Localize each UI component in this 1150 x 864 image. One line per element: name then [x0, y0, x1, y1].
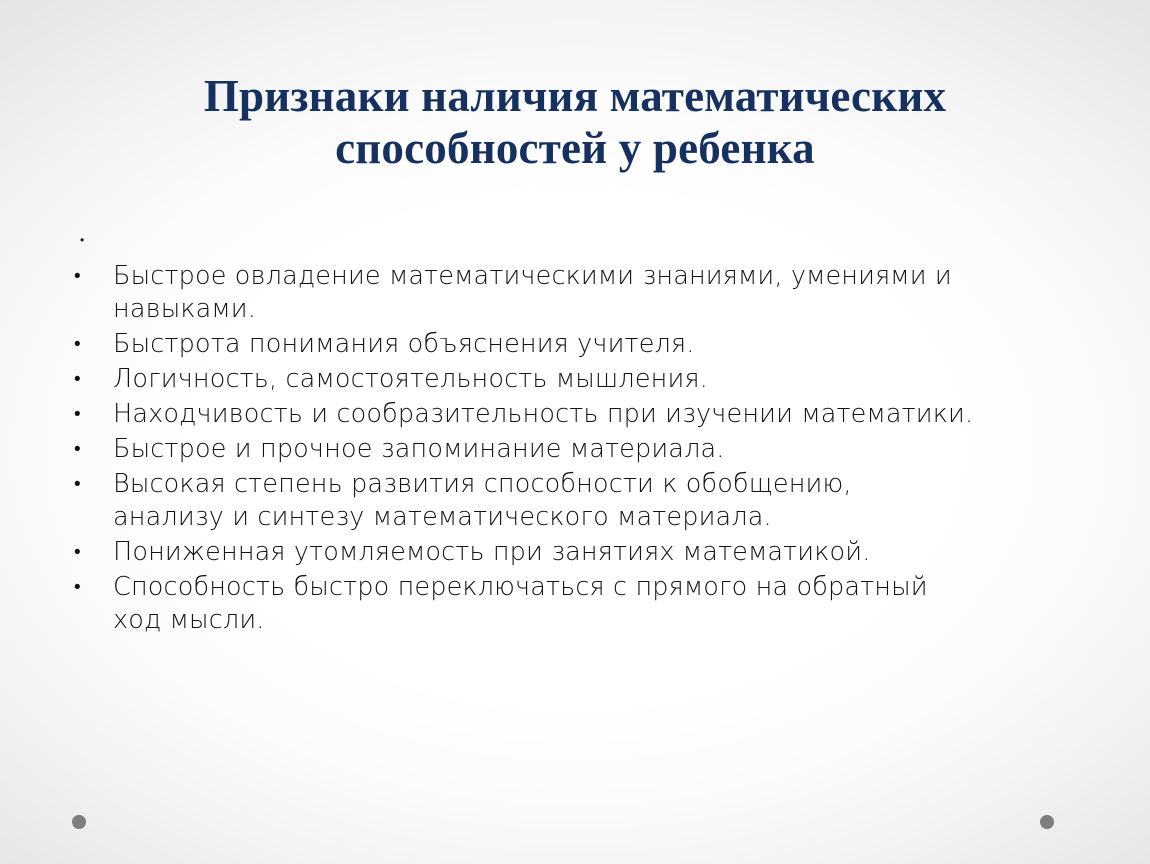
- bullet-item-line: Логичность, самостоятельность мышления.: [113, 363, 1102, 396]
- bullet-item-line: Быстрое овладение математическими знания…: [113, 260, 1102, 293]
- bullet-item-line: анализу и синтезу математического матери…: [113, 501, 1102, 534]
- slide-title: Признаки наличия математических способно…: [90, 70, 1060, 174]
- bullet-item-line: навыками.: [113, 293, 1102, 326]
- slide-body: Быстрое овладение математическими знания…: [62, 232, 1102, 639]
- bullet-item: Быстрота понимания объяснения учителя.: [62, 328, 1102, 361]
- bullet-item: Пониженная утомляемость при занятиях мат…: [62, 536, 1102, 569]
- slide-title-line-1: Признаки наличия математических: [90, 70, 1060, 122]
- bullet-item-line: ход мысли.: [113, 604, 1102, 637]
- bullet-item-line: Находчивость и сообразительность при изу…: [113, 398, 1102, 431]
- bullet-item-line: Быстрое и прочное запоминание материала.: [113, 433, 1102, 466]
- slide-title-line-2: способностей у ребенка: [90, 122, 1060, 174]
- bullet-item: Быстрое и прочное запоминание материала.: [62, 433, 1102, 466]
- bullet-item-line: Способность быстро переключаться с прямо…: [113, 571, 1102, 604]
- bullet-item: Высокая степень развития способности к о…: [62, 468, 1102, 534]
- bullet-item: Способность быстро переключаться с прямо…: [62, 571, 1102, 637]
- bullet-item: Находчивость и сообразительность при изу…: [62, 398, 1102, 431]
- bullet-item: Логичность, самостоятельность мышления.: [62, 363, 1102, 396]
- presentation-slide: Признаки наличия математических способно…: [0, 0, 1150, 864]
- bullet-item-line: Высокая степень развития способности к о…: [113, 468, 1102, 501]
- decorative-dot-right: [1040, 815, 1054, 829]
- bullet-item-line: Пониженная утомляемость при занятиях мат…: [113, 536, 1102, 569]
- bullet-item: Быстрое овладение математическими знания…: [62, 260, 1102, 326]
- bullet-item-line: Быстрота понимания объяснения учителя.: [113, 328, 1102, 361]
- bullet-list: Быстрое овладение математическими знания…: [62, 260, 1102, 637]
- decorative-dot-left: [72, 815, 86, 829]
- empty-bullet-marker: [62, 232, 1102, 260]
